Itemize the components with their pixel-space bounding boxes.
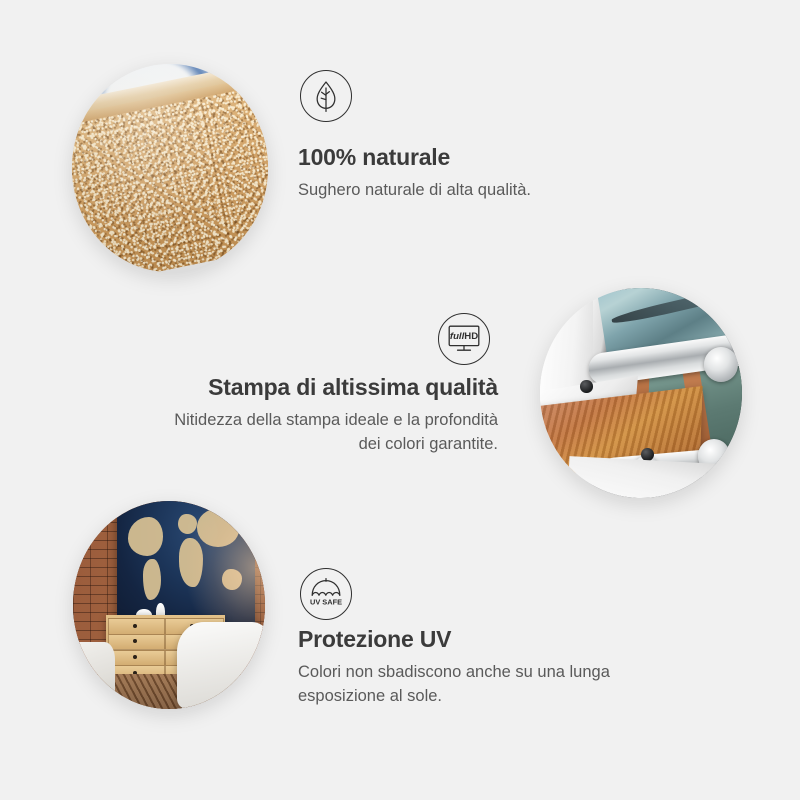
roller-wheel-right-top xyxy=(704,347,738,383)
feature-text-print-quality: Stampa di altissima qualità Nitidezza de… xyxy=(150,374,498,456)
page-title-uv-protection: Protezione UV xyxy=(298,626,698,652)
cork-photo-shading xyxy=(72,64,268,272)
page-title-print-quality: Stampa di altissima qualità xyxy=(150,374,498,400)
leaf-icon xyxy=(300,70,352,122)
cork-photo-inner xyxy=(72,64,268,272)
printing-machine-photo xyxy=(540,288,742,498)
feature-text-uv-protection: Protezione UV Colori non sbadiscono anch… xyxy=(298,626,698,708)
feature-description-uv-protection: Colori non sbadiscono anche su una lunga… xyxy=(298,661,698,708)
uv-umbrella-icon: UV SAFE xyxy=(300,568,352,620)
cork-board-closeup-photo xyxy=(72,64,268,272)
room-photo-inner xyxy=(73,501,265,709)
printer-photo-inner xyxy=(540,288,742,498)
feature-description-print-quality: Nitidezza della stampa ideale e la profo… xyxy=(150,409,498,456)
feature-text-natural: 100% naturale Sughero naturale di alta q… xyxy=(298,144,718,203)
room-world-map-photo xyxy=(73,501,265,709)
fullhd-monitor-icon: fullHD xyxy=(438,313,490,365)
printer-bottom-panel xyxy=(567,456,719,498)
map-continent-north-america xyxy=(128,517,163,556)
feature-description-natural: Sughero naturale di alta qualità. xyxy=(298,179,718,202)
fullhd-label-regular: HD xyxy=(464,331,478,342)
feature-highlights-page: 100% naturale Sughero naturale di alta q… xyxy=(0,0,800,800)
dresser-handle xyxy=(133,624,137,628)
map-continent-south-america xyxy=(143,559,161,600)
page-title-natural: 100% naturale xyxy=(298,144,718,170)
fullhd-label-italic: fullHD xyxy=(450,331,478,342)
uv-safe-label: UV SAFE xyxy=(310,598,342,607)
white-armchair-secondary xyxy=(73,642,115,709)
white-armchair xyxy=(177,622,265,709)
printer-knob-upper xyxy=(580,380,592,393)
